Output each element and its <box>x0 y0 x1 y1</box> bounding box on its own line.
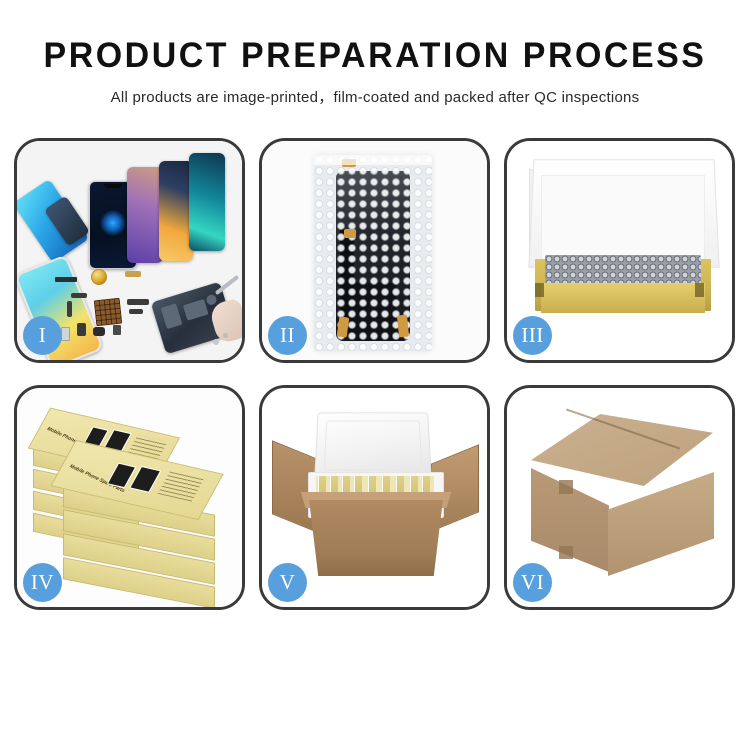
box-corner-right <box>695 283 704 297</box>
page-title: PRODUCT PREPARATION PROCESS <box>11 38 739 75</box>
flex-cable-part-1 <box>71 293 87 298</box>
step-badge-3: III <box>513 316 552 355</box>
camera-ring-part <box>91 269 107 285</box>
phone-orange <box>159 161 193 261</box>
process-step-panel-1[interactable]: I <box>14 138 245 363</box>
button-part <box>113 325 121 335</box>
process-step-panel-5[interactable]: V <box>259 385 490 610</box>
bag-seal <box>314 155 432 165</box>
box-corner-left <box>535 283 544 297</box>
bubble-wrapped-contents <box>545 255 701 283</box>
screw-part-2 <box>223 333 228 338</box>
screw-part-1 <box>213 339 219 345</box>
phone-purple <box>127 167 163 263</box>
sim-tray-part <box>61 327 70 341</box>
page-header: PRODUCT PREPARATION PROCESS All products… <box>0 0 750 107</box>
process-step-grid: I II <box>14 138 736 610</box>
box-spec-text-front <box>158 471 205 502</box>
flex-cable-part-3 <box>127 299 149 305</box>
step-badge-6: VI <box>513 563 552 602</box>
process-step-panel-2[interactable]: II <box>259 138 490 363</box>
foam-sheet <box>541 175 705 261</box>
phone-notch <box>104 184 122 188</box>
carton-right-face <box>608 472 714 576</box>
carton-top-face <box>531 414 713 486</box>
box-front-panel <box>541 283 705 313</box>
flex-cable-part-4 <box>129 309 143 314</box>
flex-cable-part-2 <box>67 301 72 317</box>
phone-green <box>189 153 225 251</box>
box-stack: Mobile Phone Spare Parts Mobile Phone Sp… <box>33 414 233 590</box>
carton-body <box>300 500 452 576</box>
page-subtitle: All products are image-printed，film-coat… <box>0 86 750 107</box>
process-step-panel-4[interactable]: Mobile Phone Spare Parts Mobile Phone Sp… <box>14 385 245 610</box>
process-step-panel-3[interactable]: III <box>504 138 735 363</box>
process-step-panel-6[interactable]: VI <box>504 385 735 610</box>
speaker-part <box>77 323 86 336</box>
foam-lid <box>314 412 432 479</box>
vibrator-part <box>93 327 105 336</box>
chip-board-part <box>94 298 123 327</box>
bubble-wrap-bag <box>314 155 432 351</box>
step-badge-1: I <box>23 316 62 355</box>
carton-tape-upper <box>559 480 573 494</box>
step-badge-5: V <box>268 563 307 602</box>
tape-middle <box>344 229 356 238</box>
carton-tape-lower <box>559 546 573 559</box>
step-badge-2: II <box>268 316 307 355</box>
step-badge-4: IV <box>23 563 62 602</box>
connector-part <box>55 277 77 282</box>
tape-bottom-right <box>397 315 409 338</box>
gold-contact-part <box>125 271 141 277</box>
bubble-texture <box>314 155 432 351</box>
